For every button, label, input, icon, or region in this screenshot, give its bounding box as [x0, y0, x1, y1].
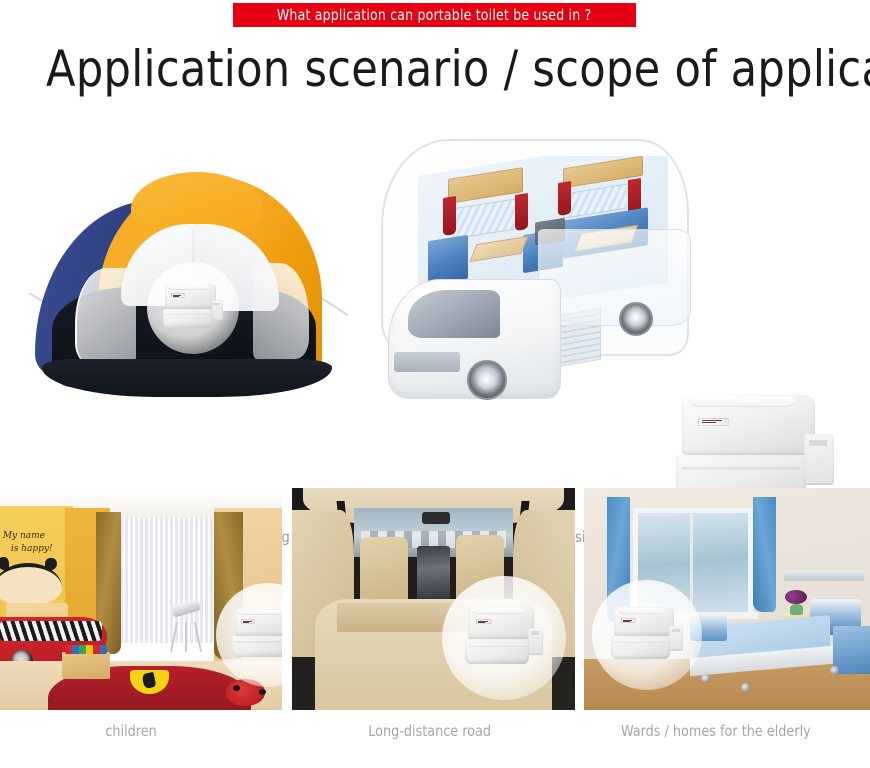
bedroom-window [113, 517, 220, 644]
scene-children-bedroom: My name is happy! [0, 488, 282, 710]
portable-toilet-spotlight [592, 580, 702, 690]
toilet-lid [168, 284, 208, 289]
rv-windshield [408, 290, 500, 338]
telescope-leg [194, 622, 202, 652]
scene-rv-cutaway [368, 128, 698, 408]
toilet-upper-tank [468, 607, 534, 639]
bedroom-bedding-stripes [0, 621, 102, 641]
caption-long-distance-road: Long-distance road [368, 722, 491, 740]
scene-hospital-ward [584, 488, 870, 710]
toilet-upper-tank [235, 609, 282, 636]
portable-toilet-product [465, 607, 543, 669]
portable-toilet-spotlight [442, 576, 566, 700]
bedroom-telescope [169, 603, 203, 652]
toilet-waste-tank [163, 309, 212, 328]
car-center-console [417, 546, 451, 604]
car-front-seat-left [360, 537, 408, 604]
toilet-brand-label [476, 619, 492, 624]
bedroom-wall-art: My name is happy! [3, 530, 65, 561]
toilet-waste-tank [611, 636, 670, 658]
toilet-flush-pump [804, 434, 834, 485]
toilet-flush-pump [212, 300, 223, 321]
toilet-upper-tank [682, 395, 815, 455]
toilet-upper-tank [614, 607, 674, 636]
toilet-brand-label [698, 418, 729, 426]
toilet-lid [618, 608, 666, 614]
ward-bed-caster [830, 666, 839, 675]
toilet-lid [690, 396, 796, 407]
toilet-flush-pump [669, 626, 683, 651]
wall-art-line-1: My name [3, 530, 45, 542]
toilet-brand-label [621, 618, 636, 623]
top-scenes-row: Outing / Camping RV / business vehicle [0, 120, 870, 440]
question-banner: What application can portable toilet be … [233, 3, 636, 27]
rv-dinette-sofa [428, 234, 468, 284]
caption-wards-homes-elderly: Wards / homes for the elderly [621, 722, 811, 740]
telescope-leg [170, 622, 178, 652]
portable-toilet-product [611, 607, 683, 663]
toilet-waste-tank [232, 636, 282, 657]
wall-art-line-2: is happy! [11, 543, 53, 555]
rv-front-grille [394, 352, 460, 372]
portable-toilet-spotlight [147, 262, 239, 354]
ward-curtain-right [753, 497, 776, 612]
toilet-brand-label [171, 293, 184, 297]
telescope-leg [185, 622, 187, 652]
bedroom-toy-blocks [62, 652, 110, 679]
toilet-waste-tank [465, 639, 529, 664]
toilet-lid [238, 610, 282, 616]
ward-flower-vase [784, 590, 810, 614]
rv-rear-wheel [619, 302, 653, 336]
tent-top-panel [131, 172, 263, 230]
portable-toilet-product [232, 609, 282, 661]
caption-children: children [105, 722, 156, 740]
rv-curtain [558, 181, 571, 216]
rv-curtain [443, 196, 456, 236]
tent-groundsheet [42, 359, 332, 397]
toilet-lid [472, 608, 524, 614]
portable-toilet-product [163, 284, 223, 332]
toilet-upper-tank [165, 284, 215, 309]
page-title: Application scenario / scope of applicat… [46, 40, 870, 98]
toilet-brand-label [241, 619, 255, 624]
scene-camping-tent [22, 162, 352, 402]
rv-curtain [515, 193, 528, 231]
ward-bedside-cabinet [833, 626, 870, 675]
question-banner-text: What application can portable toilet be … [277, 6, 592, 24]
ward-bed-head-rail [784, 570, 864, 581]
bottom-scenes-row: My name is happy! [0, 488, 870, 710]
scene-car-trunk [292, 488, 575, 710]
toilet-flush-pump [528, 628, 543, 655]
car-rearview-mirror [422, 512, 450, 523]
